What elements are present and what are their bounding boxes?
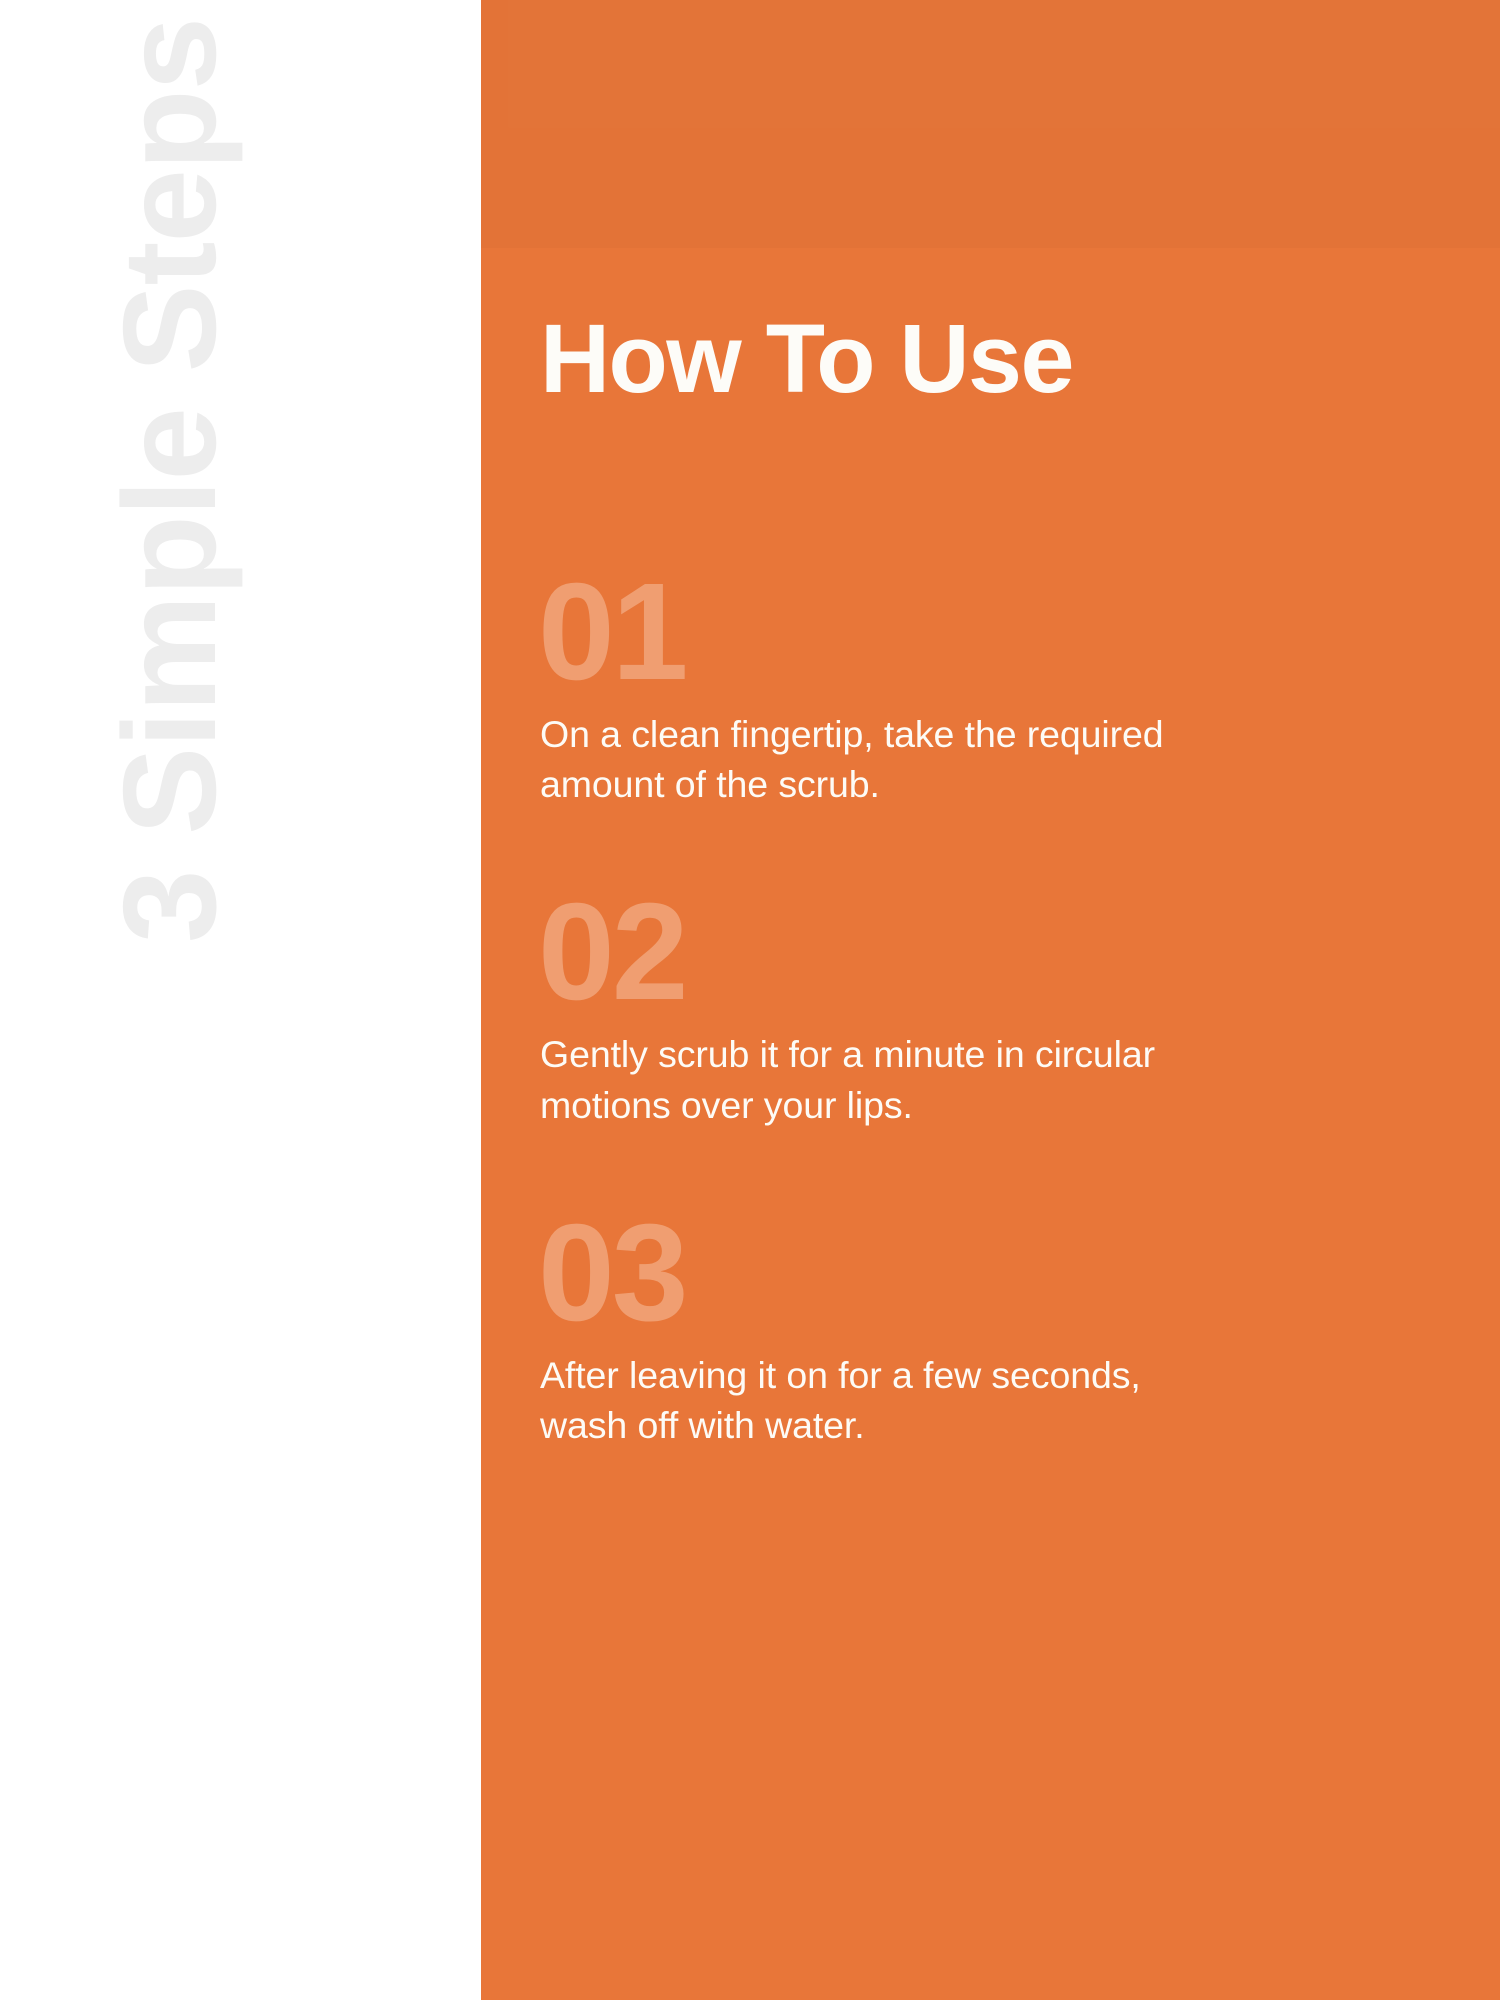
step-number-03: 03 bbox=[538, 1216, 1440, 1332]
step-text-02-line1: Gently scrub it for a minute in circular bbox=[540, 1029, 1340, 1079]
steps-list: 01 On a clean fingertip, take the requir… bbox=[540, 575, 1440, 1536]
vertical-watermark-label: 3 Simple Steps bbox=[104, 10, 236, 943]
step-item-02: 02 Gently scrub it for a minute in circu… bbox=[540, 895, 1440, 1129]
step-number-02: 02 bbox=[538, 895, 1440, 1011]
left-white-column: 3 Simple Steps bbox=[0, 0, 481, 2000]
orange-content-panel: How To Use 01 On a clean fingertip, take… bbox=[481, 0, 1500, 2000]
step-text-03-line1: After leaving it on for a few seconds, bbox=[540, 1350, 1340, 1400]
step-text-03-line2: wash off with water. bbox=[540, 1400, 1340, 1450]
step-text-01: On a clean fingertip, take the required … bbox=[540, 709, 1340, 810]
step-text-01-line1: On a clean fingertip, take the required bbox=[540, 709, 1340, 759]
step-item-03: 03 After leaving it on for a few seconds… bbox=[540, 1216, 1440, 1450]
step-number-01: 01 bbox=[538, 575, 1440, 691]
step-text-03: After leaving it on for a few seconds, w… bbox=[540, 1350, 1340, 1451]
step-item-01: 01 On a clean fingertip, take the requir… bbox=[540, 575, 1440, 809]
how-to-use-page: 3 Simple Steps How To Use 01 On a clean … bbox=[0, 0, 1500, 2000]
step-text-02: Gently scrub it for a minute in circular… bbox=[540, 1029, 1340, 1130]
vertical-label-container: 3 Simple Steps bbox=[80, 10, 260, 1390]
step-text-01-line2: amount of the scrub. bbox=[540, 759, 1340, 809]
page-title: How To Use bbox=[540, 310, 1073, 407]
step-text-02-line2: motions over your lips. bbox=[540, 1080, 1340, 1130]
panel-content-area: How To Use 01 On a clean fingertip, take… bbox=[540, 0, 1440, 2000]
